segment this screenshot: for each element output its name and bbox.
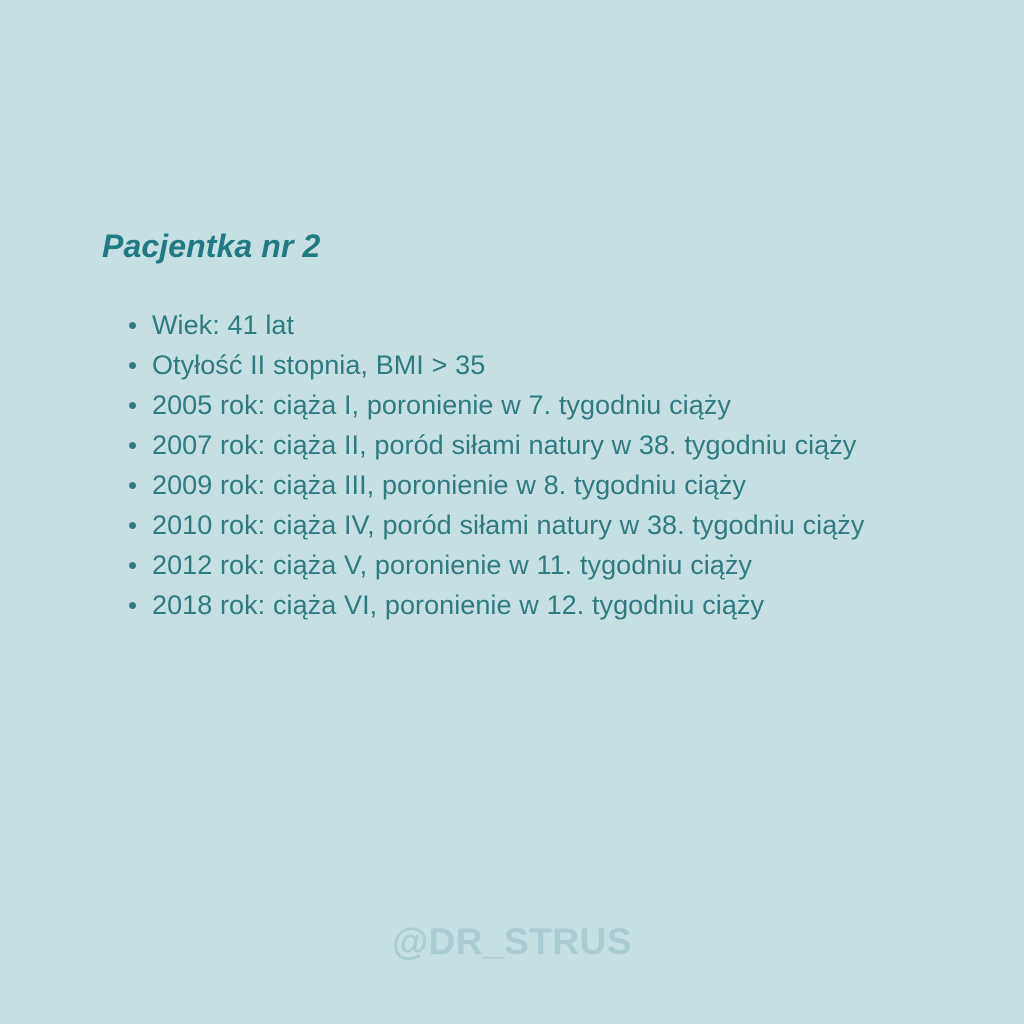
bullet-icon — [129, 322, 136, 329]
bullet-icon — [129, 522, 136, 529]
bullet-icon — [129, 482, 136, 489]
list-item-text: 2009 rok: ciąża III, poronienie w 8. tyg… — [152, 465, 884, 505]
bullet-icon — [129, 562, 136, 569]
list-item: 2007 rok: ciąża II, poród siłami natury … — [124, 425, 884, 465]
list-item-text: 2010 rok: ciąża IV, poród siłami natury … — [152, 505, 874, 545]
list-item-text: 2012 rok: ciąża V, poronienie w 11. tygo… — [152, 545, 884, 585]
list-item-text: Wiek: 41 lat — [152, 305, 884, 345]
bullet-icon — [129, 442, 136, 449]
bullet-icon — [129, 362, 136, 369]
list-item-text: 2005 rok: ciąża I, poronienie w 7. tygod… — [152, 385, 884, 425]
page-title: Pacjentka nr 2 — [102, 227, 320, 265]
list-item: 2009 rok: ciąża III, poronienie w 8. tyg… — [124, 465, 884, 505]
list-item: 2012 rok: ciąża V, poronienie w 11. tygo… — [124, 545, 884, 585]
list-item-text: 2007 rok: ciąża II, poród siłami natury … — [152, 425, 874, 465]
patient-facts-list: Wiek: 41 lat Otyłość II stopnia, BMI > 3… — [124, 305, 884, 625]
list-item: 2010 rok: ciąża IV, poród siłami natury … — [124, 505, 884, 545]
bullet-icon — [129, 602, 136, 609]
watermark-handle: @DR_STRUS — [0, 920, 1024, 964]
list-item: Wiek: 41 lat — [124, 305, 884, 345]
list-item-text: Otyłość II stopnia, BMI > 35 — [152, 345, 884, 385]
list-item: Otyłość II stopnia, BMI > 35 — [124, 345, 884, 385]
list-item: 2018 rok: ciąża VI, poronienie w 12. tyg… — [124, 585, 884, 625]
list-item: 2005 rok: ciąża I, poronienie w 7. tygod… — [124, 385, 884, 425]
patient-case-slide: Pacjentka nr 2 Wiek: 41 lat Otyłość II s… — [0, 0, 1024, 1024]
bullet-icon — [129, 402, 136, 409]
list-item-text: 2018 rok: ciąża VI, poronienie w 12. tyg… — [152, 585, 884, 625]
